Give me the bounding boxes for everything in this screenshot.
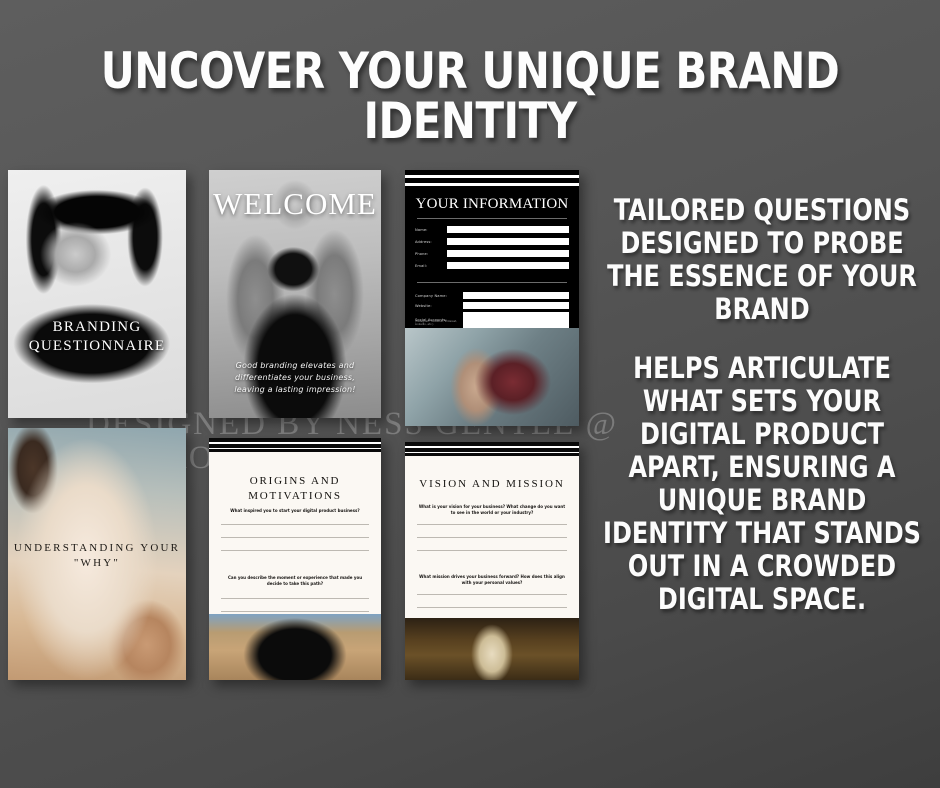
answer-line: [221, 611, 369, 612]
answer-line: [417, 607, 567, 608]
field-input-company-name[interactable]: [463, 292, 569, 299]
origins-question-1: What inspired you to start your digital …: [221, 508, 369, 514]
field-input-social-accounts[interactable]: [463, 312, 569, 328]
vision-answer-lines-1[interactable]: [417, 524, 567, 563]
benefit-paragraph-1: TAILORED QUESTIONS DESIGNED TO PROBE THE…: [600, 194, 924, 326]
card-vision-and-mission[interactable]: VISION AND MISSION What is your vision f…: [405, 442, 579, 680]
branding-card-title: BRANDING QUESTIONNAIRE: [8, 318, 186, 356]
field-input-name[interactable]: [447, 226, 569, 233]
benefit-paragraph-2: HELPS ARTICULATE WHAT SETS YOUR DIGITAL …: [600, 352, 924, 616]
divider-bottom: [417, 282, 567, 283]
origins-stripe-decoration: [209, 438, 381, 452]
vision-question-2: What mission drives your business forwar…: [417, 574, 567, 585]
welcome-card-title: WELCOME: [209, 186, 381, 222]
vision-stripe-decoration: [405, 442, 579, 456]
origins-footer-photo: [209, 614, 381, 680]
field-label-company-name: Company Name:: [415, 294, 459, 298]
field-row-name[interactable]: Name:: [415, 226, 569, 233]
vision-footer-photo: [405, 618, 579, 680]
answer-line: [417, 594, 567, 595]
field-input-address[interactable]: [447, 238, 569, 245]
divider-top: [417, 218, 567, 219]
field-input-website[interactable]: [463, 302, 569, 309]
field-label-address: Address:: [415, 240, 443, 244]
answer-line: [221, 598, 369, 599]
information-header-panel: YOUR INFORMATION Name: Address: Phone: E…: [405, 170, 579, 328]
card-branding-questionnaire[interactable]: BRANDING QUESTIONNAIRE: [8, 170, 186, 418]
origins-card-title: ORIGINS AND MOTIVATIONS: [209, 474, 381, 504]
field-label-website: Website:: [415, 304, 459, 308]
field-row-website[interactable]: Website:: [415, 302, 569, 309]
answer-line: [417, 550, 567, 551]
header-stripe-decoration: [405, 170, 579, 194]
answer-line: [221, 550, 369, 551]
field-label-email: Email:: [415, 264, 443, 268]
field-row-address[interactable]: Address:: [415, 238, 569, 245]
field-row-phone[interactable]: Phone:: [415, 250, 569, 257]
card-origins-and-motivations[interactable]: ORIGINS AND MOTIVATIONS What inspired yo…: [209, 438, 381, 680]
answer-line: [417, 524, 567, 525]
answer-line: [221, 537, 369, 538]
field-label-name: Name:: [415, 228, 443, 232]
answer-line: [417, 537, 567, 538]
branding-cover-photo: [8, 170, 186, 418]
field-row-company-name[interactable]: Company Name:: [415, 292, 569, 299]
information-card-title: YOUR INFORMATION: [405, 196, 579, 213]
card-understanding-your-why[interactable]: UNDERSTANDING YOUR "WHY": [8, 428, 186, 680]
origins-question-2: Can you describe the moment or experienc…: [221, 575, 369, 586]
welcome-card-caption: Good branding elevates and differentiate…: [219, 360, 371, 396]
information-footer-photo: [405, 328, 579, 426]
card-welcome[interactable]: WELCOME Good branding elevates and diffe…: [209, 170, 381, 418]
vision-card-title: VISION AND MISSION: [405, 478, 579, 490]
social-accounts-hint: (Instagram, Facebook, Pinterest, LinkedI…: [415, 320, 457, 327]
page-title: UNCOVER YOUR UNIQUE BRAND IDENTITY: [33, 46, 907, 146]
field-input-phone[interactable]: [447, 250, 569, 257]
field-row-email[interactable]: Email:: [415, 262, 569, 269]
card-your-information[interactable]: YOUR INFORMATION Name: Address: Phone: E…: [405, 170, 579, 426]
answer-line: [221, 524, 369, 525]
field-label-phone: Phone:: [415, 252, 443, 256]
origins-answer-lines-1[interactable]: [221, 524, 369, 563]
field-input-email[interactable]: [447, 262, 569, 269]
vision-question-1: What is your vision for your business? W…: [417, 504, 567, 515]
why-card-title: UNDERSTANDING YOUR "WHY": [8, 541, 186, 571]
